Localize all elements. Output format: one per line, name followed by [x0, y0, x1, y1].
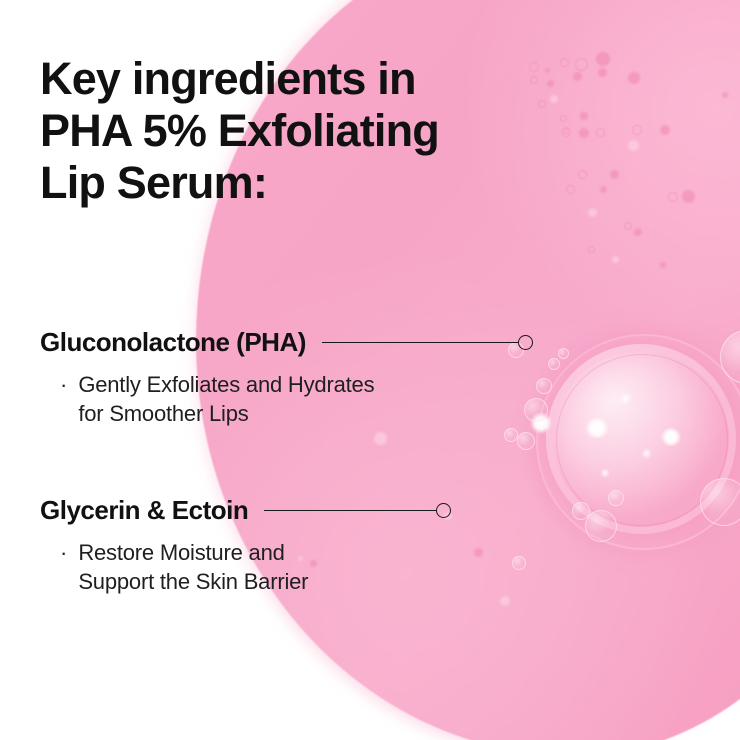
micro-bubble-icon	[610, 170, 619, 179]
micro-bubble-icon	[530, 76, 538, 84]
micro-bubble-icon	[660, 125, 670, 135]
bullet-marker-icon: ·	[60, 370, 67, 428]
micro-bubble-icon	[560, 58, 569, 67]
micro-bubble-icon	[612, 256, 619, 263]
satellite-bubble-icon	[504, 428, 518, 442]
micro-bubble-icon	[668, 192, 678, 202]
connector-endpoint-circle-icon	[436, 503, 451, 518]
specular-highlight-icon	[660, 428, 682, 446]
micro-bubble-icon	[545, 68, 550, 73]
micro-bubble-icon	[624, 222, 632, 230]
micro-bubble-icon	[660, 262, 666, 268]
micro-bubble-icon	[560, 115, 567, 122]
micro-bubble-icon	[500, 596, 510, 606]
micro-bubble-icon	[561, 127, 571, 137]
ingredient-bullet: · Gently Exfoliates and Hydrates for Smo…	[40, 370, 700, 428]
ingredient-heading-row: Gluconolactone (PHA)	[40, 325, 700, 359]
micro-bubble-icon	[578, 170, 587, 179]
bullet-text: Gently Exfoliates and Hydrates for Smoot…	[78, 370, 374, 428]
connector-line	[264, 510, 436, 511]
micro-bubble-icon	[628, 72, 640, 84]
micro-bubble-icon	[596, 52, 610, 66]
callout-connector	[264, 503, 451, 518]
connector-endpoint-circle-icon	[518, 335, 533, 350]
bullet-text: Restore Moisture and Support the Skin Ba…	[78, 538, 308, 596]
specular-highlight-icon	[600, 468, 610, 478]
ingredient-bullet: · Restore Moisture and Support the Skin …	[40, 538, 700, 596]
satellite-bubble-icon	[517, 432, 535, 450]
promo-graphic: Key ingredients in PHA 5% Exfoliating Li…	[0, 0, 740, 740]
micro-bubble-icon	[529, 62, 539, 72]
satellite-bubble-icon	[700, 478, 740, 526]
ingredient-name: Glycerin & Ectoin	[40, 495, 248, 526]
micro-bubble-icon	[634, 228, 642, 236]
micro-bubble-icon	[579, 128, 589, 138]
micro-bubble-icon	[538, 100, 546, 108]
micro-bubble-icon	[563, 128, 569, 134]
callout-connector	[322, 335, 533, 350]
micro-bubble-icon	[550, 95, 558, 103]
micro-bubble-icon	[588, 246, 595, 253]
micro-bubble-icon	[598, 68, 607, 77]
micro-bubble-icon	[628, 140, 639, 151]
micro-bubble-icon	[632, 125, 642, 135]
specular-highlight-icon	[641, 448, 652, 459]
micro-bubble-icon	[722, 92, 728, 98]
connector-line	[322, 342, 518, 343]
micro-bubble-icon	[573, 72, 582, 81]
micro-bubble-icon	[566, 185, 575, 194]
ingredient-name: Gluconolactone (PHA)	[40, 327, 306, 358]
micro-bubble-icon	[682, 190, 695, 203]
micro-bubble-icon	[575, 58, 588, 71]
bullet-marker-icon: ·	[60, 538, 67, 596]
ingredient-heading-row: Glycerin & Ectoin	[40, 493, 700, 527]
micro-bubble-icon	[600, 186, 607, 193]
page-title: Key ingredients in PHA 5% Exfoliating Li…	[40, 53, 510, 209]
micro-bubble-icon	[596, 128, 605, 137]
micro-bubble-icon	[580, 112, 588, 120]
micro-bubble-icon	[547, 80, 554, 87]
ingredient-block-gluconolactone: Gluconolactone (PHA) · Gently Exfoliates…	[40, 325, 700, 428]
micro-bubble-icon	[588, 208, 597, 217]
micro-bubble-icon	[374, 432, 387, 445]
satellite-bubble-icon	[720, 330, 740, 384]
ingredient-block-glycerin-ectoin: Glycerin & Ectoin · Restore Moisture and…	[40, 493, 700, 596]
